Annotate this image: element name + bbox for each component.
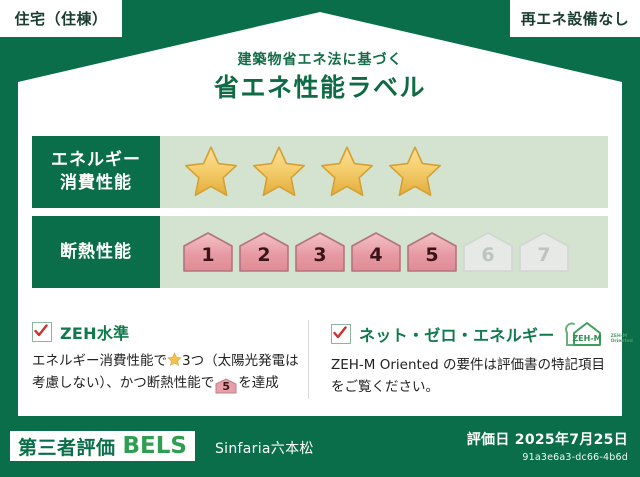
svg-text:ZEH-M: ZEH-M [572,334,601,343]
zeh-standard-header: ZEH水準 [32,320,308,344]
zeh-standard-text-part1: エネルギー消費性能で [32,353,167,369]
net-zero-energy-header: ネット・ゼロ・エネルギー ZEH-M ZEH-M Oriented [331,320,610,348]
bels-badge: 第三者評価 BELS [10,431,195,461]
renewable-energy-badge: 再エネ設備なし [510,0,640,37]
insulation-grade-value: 6 [481,246,494,273]
title-main: 省エネ性能ラベル [0,72,640,105]
evaluation-date: 評価日 2025年7月25日 [467,429,628,449]
inline-grade-badge: 5 [215,378,237,394]
zeh-standard-column: ZEH水準 エネルギー消費性能で3つ（太陽光発電は考慮しない）、かつ断熱性能で5… [32,320,308,399]
insulation-grade-value: 7 [537,246,550,273]
insulation-grade-3: 3 [294,231,346,273]
net-zero-energy-title: ネット・ゼロ・エネルギー [359,322,555,346]
inline-grade-value: 5 [215,378,237,395]
insulation-grade-7: 7 [518,231,570,273]
star-icon [386,144,444,200]
insulation-grade-1: 1 [182,231,234,273]
building-type-badge: 住宅（住棟） [0,0,122,37]
zeh-standard-title: ZEH水準 [60,320,129,344]
energy-performance-label: 住宅（住棟） 再エネ設備なし 建築物省エネ法に基づく 省エネ性能ラベル エネルギ… [0,0,640,477]
page-title: 建築物省エネ法に基づく 省エネ性能ラベル [0,52,640,104]
building-type-text: 住宅（住棟） [14,8,107,29]
title-subtitle: 建築物省エネ法に基づく [0,52,640,69]
net-zero-energy-column: ネット・ゼロ・エネルギー ZEH-M ZEH-M Oriented ZEH-M … [308,320,610,399]
energy-consumption-panel [160,136,608,208]
insulation-grade-2: 2 [238,231,290,273]
checkbox-checked-icon [32,322,52,342]
insulation-label: 断熱性能 [32,216,160,288]
insulation-grade-value: 3 [313,246,326,273]
zeh-m-logo-subline2: Oriented [611,339,633,345]
star-icon [250,144,308,200]
evaluation-id: 91a3e6a3-dc66-4b6d [467,452,628,463]
energy-label-line2: 消費性能 [60,172,132,195]
insulation-label-line1: 断熱性能 [60,241,132,264]
zeh-m-logo-subtext: ZEH-M Oriented [611,334,633,348]
insulation-grade-value: 2 [257,246,270,273]
insulation-row: 断熱性能 1234567 [32,216,608,288]
star-icon [318,144,376,200]
insulation-grade-scale: 1234567 [182,231,570,273]
rating-rows: エネルギー 消費性能 断熱性能 1234567 [32,136,608,296]
zeh-standard-text: エネルギー消費性能で3つ（太陽光発電は考慮しない）、かつ断熱性能で5を達成 [32,351,308,395]
star-icon [182,144,240,200]
renewable-energy-text: 再エネ設備なし [521,8,630,29]
zeh-section: ZEH水準 エネルギー消費性能で3つ（太陽光発電は考慮しない）、かつ断熱性能で5… [32,320,610,399]
bels-en-label: BELS [123,433,187,459]
insulation-panel: 1234567 [160,216,608,288]
checkbox-checked-icon [331,324,351,344]
evaluation-info: 評価日 2025年7月25日 91a3e6a3-dc66-4b6d [467,429,628,463]
inline-star-icon [167,352,182,367]
insulation-grade-value: 5 [425,246,438,273]
energy-consumption-row: エネルギー 消費性能 [32,136,608,208]
energy-label-line1: エネルギー [51,149,141,172]
net-zero-energy-text: ZEH-M Oriented の要件は評価書の特記項目をご覧ください。 [331,355,610,399]
insulation-grade-5: 5 [406,231,458,273]
zeh-m-logo: ZEH-M ZEH-M Oriented [563,320,633,348]
star-rating [182,144,444,200]
insulation-grade-value: 1 [201,246,214,273]
energy-consumption-label: エネルギー 消費性能 [32,136,160,208]
bels-jp-label: 第三者評価 [18,433,116,460]
insulation-grade-4: 4 [350,231,402,273]
insulation-grade-value: 4 [369,246,382,273]
property-name: Sinfaria六本松 [215,438,314,458]
zeh-standard-text-part3: を達成 [238,375,279,391]
insulation-grade-6: 6 [462,231,514,273]
footer: 第三者評価 BELS Sinfaria六本松 評価日 2025年7月25日 91… [0,421,640,477]
